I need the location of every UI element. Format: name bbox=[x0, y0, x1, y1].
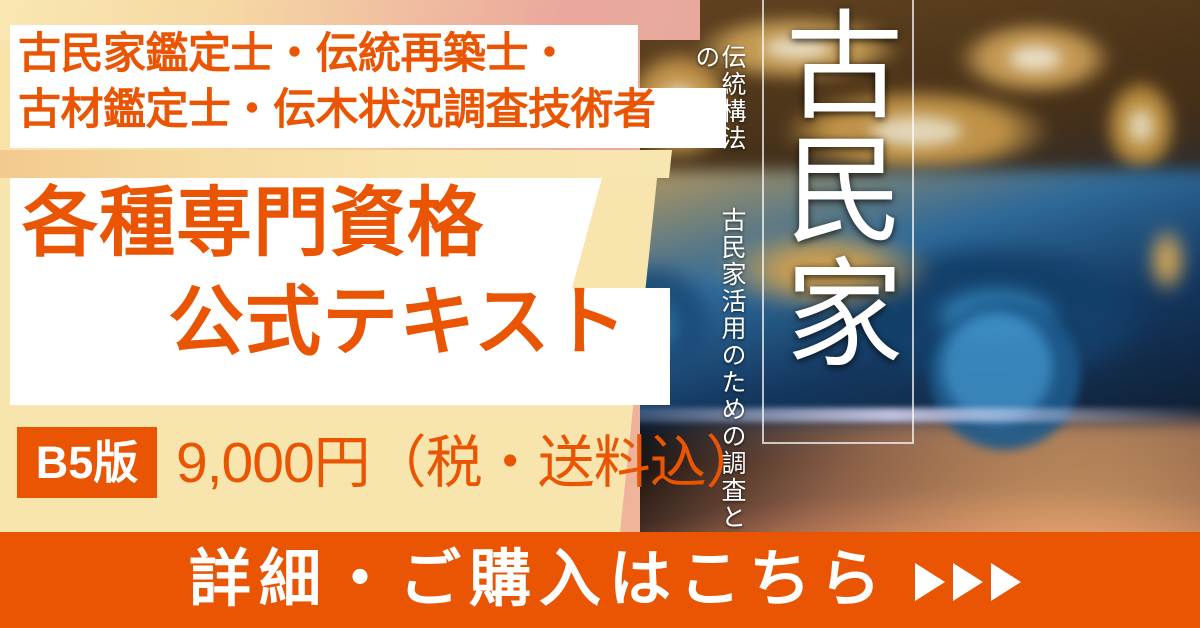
chevron-right-icon[interactable] bbox=[915, 563, 1021, 601]
size-badge: B5版 bbox=[17, 427, 157, 498]
size-badge-label: B5版 bbox=[17, 427, 157, 498]
certifications-text: 古民家鑑定士・伝統再築士・ 古材鑑定士・伝木状況調査技術者 bbox=[18, 27, 734, 147]
book-cover-title: 古民家 bbox=[770, 4, 902, 434]
arrow-triangle-2 bbox=[953, 563, 983, 601]
certifications-line-1: 古民家鑑定士・伝統再築士・ bbox=[18, 27, 734, 83]
promo-banner: 伝統構法 古民家活用のための調査と再生の 古民家 古民家鑑定士・伝統再築士・ 古… bbox=[0, 0, 1200, 628]
headline-line-2: 公式テキスト bbox=[168, 285, 628, 361]
cream-divider-strip bbox=[0, 150, 700, 178]
arrow-triangle-3 bbox=[991, 563, 1021, 601]
cta-content[interactable]: 詳細・ご購入はこちら bbox=[0, 532, 1200, 628]
certifications-line-2: 古材鑑定士・伝木状況調査技術者 bbox=[18, 83, 734, 139]
headline-line-1: 各種専門資格 bbox=[22, 186, 484, 262]
arrow-triangle-1 bbox=[915, 563, 945, 601]
cta-label[interactable]: 詳細・ご購入はこちら bbox=[189, 549, 889, 611]
price-text: 9,000円（税・送料込） bbox=[176, 428, 762, 498]
